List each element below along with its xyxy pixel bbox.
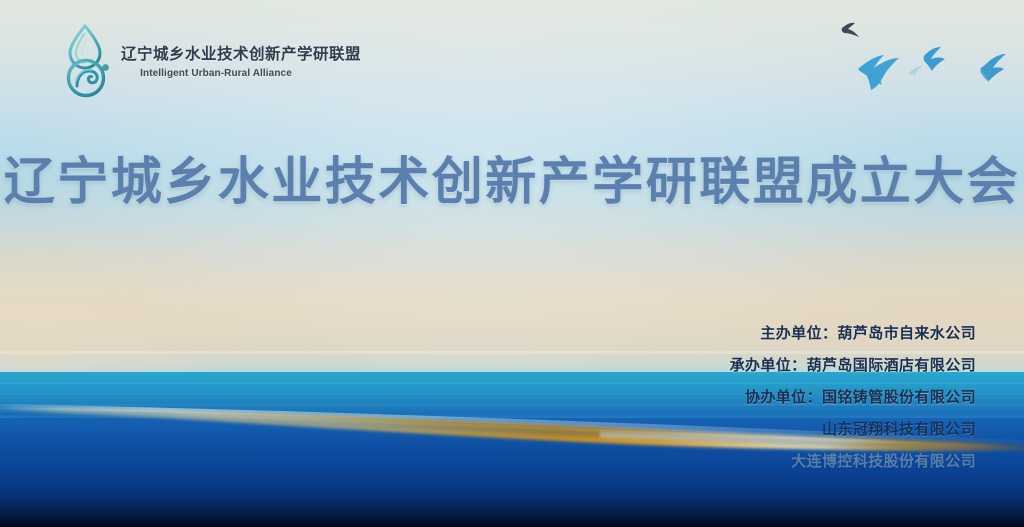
list-item: 主办单位：葫芦岛市自来水公司 bbox=[676, 318, 976, 350]
list-item: 山东冠翔科技有限公司 bbox=[676, 414, 976, 446]
organizer-value: 山东冠翔科技有限公司 bbox=[822, 421, 976, 438]
list-item: 承办单位：葫芦岛国际酒店有限公司 bbox=[676, 350, 976, 382]
alliance-logo: 辽宁城乡水业技术创新产学研联盟 Intelligent Urban-Rural … bbox=[55, 24, 305, 100]
water-droplet-wave-emblem-icon bbox=[55, 24, 117, 98]
list-item: 大连博控科技股份有限公司 bbox=[676, 446, 976, 478]
list-item: 协办单位：国铭铸管股份有限公司 bbox=[676, 382, 976, 414]
organizer-value: 大连博控科技股份有限公司 bbox=[791, 453, 976, 470]
organizer-list: 主办单位：葫芦岛市自来水公司 承办单位：葫芦岛国际酒店有限公司 协办单位：国铭铸… bbox=[676, 318, 976, 478]
organizer-value: 国铭铸管股份有限公司 bbox=[822, 389, 976, 406]
organizer-value: 葫芦岛国际酒店有限公司 bbox=[807, 357, 976, 374]
organizer-label: 主办单位： bbox=[760, 325, 837, 342]
logo-chinese-name: 辽宁城乡水业技术创新产学研联盟 bbox=[121, 46, 311, 63]
organizer-label: 承办单位： bbox=[730, 357, 807, 374]
conference-backdrop-banner: 辽宁城乡水业技术创新产学研联盟 Intelligent Urban-Rural … bbox=[0, 0, 1024, 527]
logo-english-name: Intelligent Urban-Rural Alliance bbox=[121, 68, 311, 79]
flying-birds-icon bbox=[836, 14, 1012, 96]
logo-text-block: 辽宁城乡水业技术创新产学研联盟 Intelligent Urban-Rural … bbox=[121, 46, 311, 79]
page-title: 辽宁城乡水业技术创新产学研联盟成立大会 bbox=[0, 140, 1024, 214]
organizer-label: 协办单位： bbox=[745, 389, 822, 406]
organizer-value: 葫芦岛市自来水公司 bbox=[837, 325, 976, 342]
